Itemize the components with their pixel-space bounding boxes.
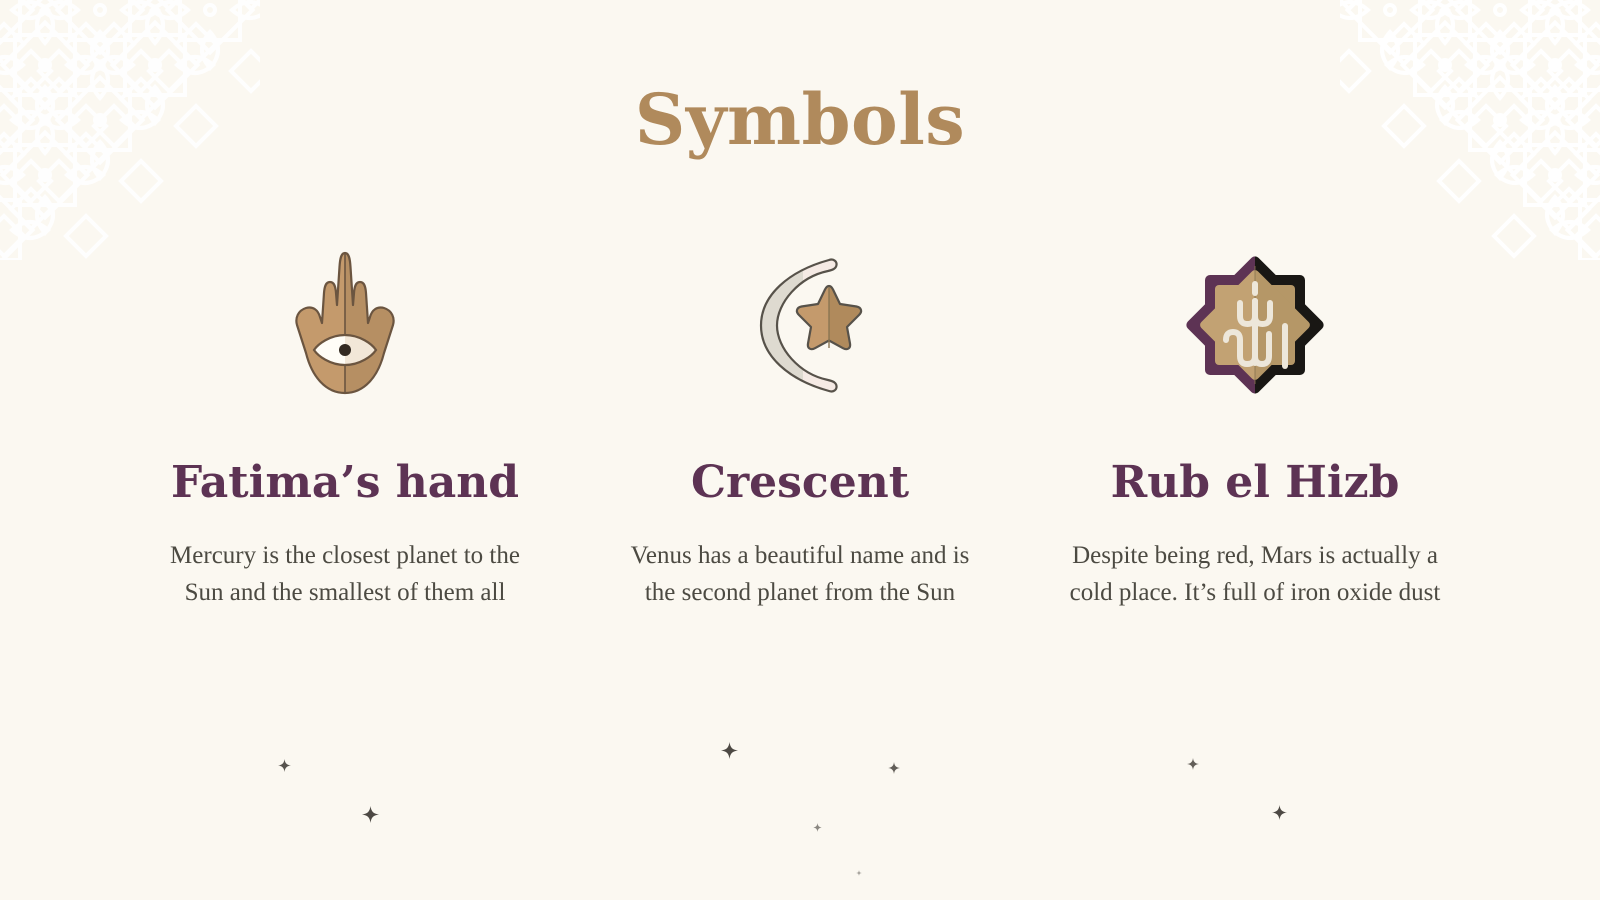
card-title: Fatima’s hand — [171, 460, 519, 506]
card-title: Rub el Hizb — [1111, 460, 1400, 506]
page-title: Symbols — [0, 78, 1600, 161]
crescent-moon-star-icon — [725, 248, 875, 403]
hamsa-hand-icon — [280, 245, 410, 405]
sparkle-icon — [278, 759, 291, 772]
card-title: Crescent — [691, 460, 909, 506]
crescent-icon-wrap — [725, 240, 875, 410]
sparkle-icon — [1272, 805, 1287, 820]
symbol-card-crescent: Crescent Venus has a beautiful name and … — [573, 240, 1028, 611]
sparkle-icon — [1187, 757, 1199, 769]
symbol-card-fatimas-hand: Fatima’s hand Mercury is the closest pla… — [118, 240, 573, 611]
symbol-card-rub-el-hizb: Rub el Hizb Despite being red, Mars is a… — [1028, 240, 1483, 611]
hamsa-hand-icon-wrap — [280, 240, 410, 410]
sparkle-icon — [362, 806, 379, 823]
card-body: Venus has a beautiful name and is the se… — [614, 538, 986, 611]
card-body: Mercury is the closest planet to the Sun… — [150, 538, 540, 611]
sparkle-icon — [721, 742, 738, 759]
sparkle-icon — [813, 819, 822, 828]
sparkle-icon — [856, 863, 862, 869]
card-body: Despite being red, Mars is actually a co… — [1055, 538, 1455, 611]
rub-el-hizb-icon-wrap — [1180, 240, 1330, 410]
rub-el-hizb-icon — [1180, 248, 1330, 403]
sparkle-icon — [888, 761, 900, 773]
symbol-columns: Fatima’s hand Mercury is the closest pla… — [0, 240, 1600, 611]
